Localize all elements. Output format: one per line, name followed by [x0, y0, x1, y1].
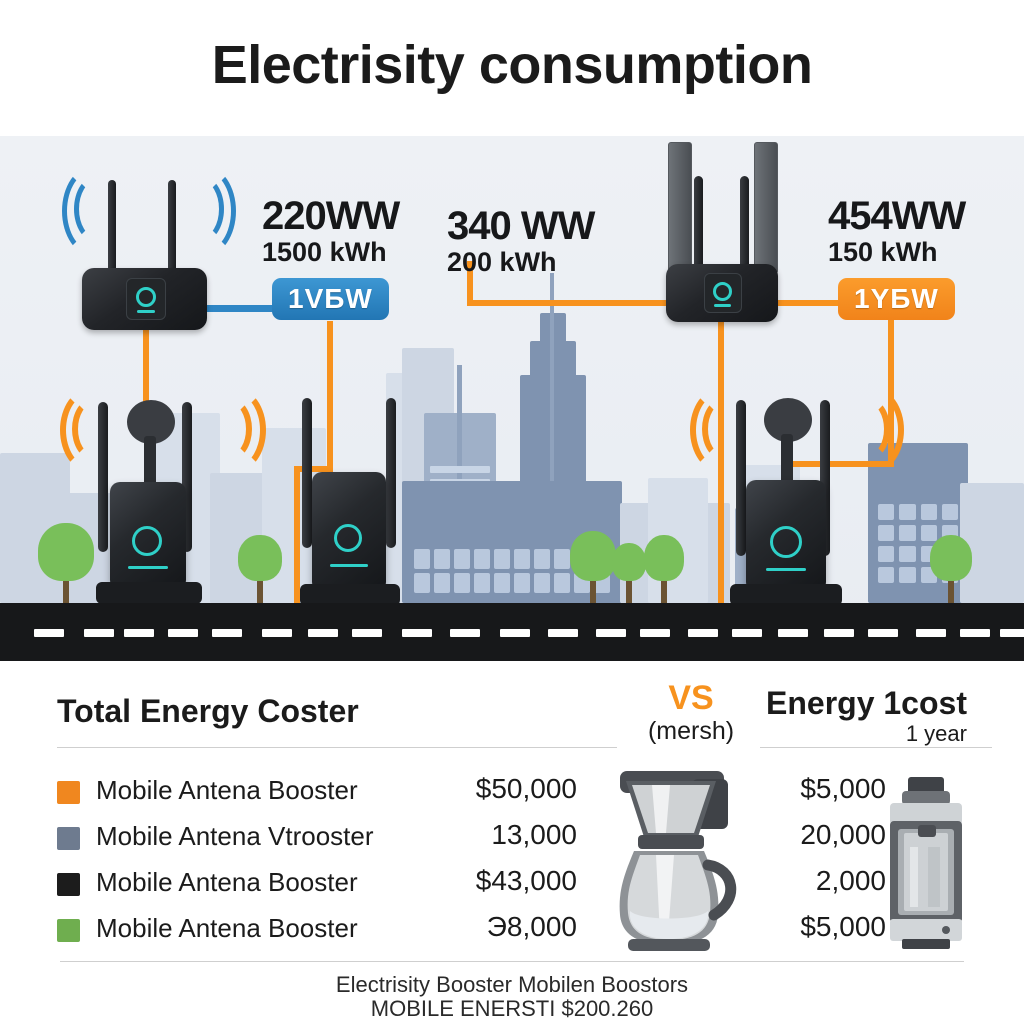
divider	[760, 747, 992, 748]
dish-neck	[781, 434, 793, 486]
table-row[interactable]: Mobile Antena Vtrooster 13,000	[57, 817, 577, 863]
router-top-right[interactable]	[658, 136, 783, 326]
label-power: 340 WW	[447, 204, 594, 249]
tower-bottom-left[interactable]	[72, 386, 242, 606]
tower-bottom-mid[interactable]	[290, 398, 420, 610]
tower-body	[110, 482, 186, 590]
energy-value: 20,000	[766, 819, 886, 865]
antenna	[694, 176, 703, 274]
label-kwh: 150 kWh	[828, 237, 965, 268]
router-top-left[interactable]	[82, 150, 207, 330]
panel-right-header: Energy 1cost	[766, 687, 967, 721]
vs-label: VS	[641, 681, 741, 715]
panel-left-header: Total Energy Coster	[57, 693, 359, 730]
dish-neck	[144, 436, 156, 488]
color-swatch	[57, 827, 80, 850]
energy-value: 2,000	[766, 865, 886, 911]
blender-icon	[880, 777, 972, 957]
router-screen	[126, 278, 166, 320]
panel-right-subheader: 1 year	[766, 721, 967, 747]
footer-line-2: MOBILE ENERSTI $200.260	[0, 996, 1024, 1022]
router-screen	[704, 273, 742, 313]
color-swatch	[57, 781, 80, 804]
tree	[612, 543, 646, 603]
color-swatch	[57, 919, 80, 942]
row-label: Mobile Antena Booster	[96, 913, 358, 944]
label-power: 220WW	[262, 194, 399, 239]
antenna	[386, 398, 396, 548]
antenna	[740, 176, 749, 274]
tower-body	[746, 480, 826, 592]
row-cost: Э8,000	[487, 911, 577, 943]
color-swatch	[57, 873, 80, 896]
footer-line-1: Electrisity Booster Mobilen Boostors	[0, 972, 1024, 998]
divider	[60, 961, 964, 962]
tower-bottom-right[interactable]	[702, 376, 882, 608]
wifi-arc-icon	[206, 388, 266, 472]
wifi-arc-icon	[60, 388, 120, 472]
antenna	[98, 402, 108, 552]
energy-value: $5,000	[766, 911, 886, 957]
tower-body	[312, 472, 386, 592]
label-power: 454WW	[828, 194, 965, 239]
table-row[interactable]: Mobile Antena Booster $50,000	[57, 771, 577, 817]
road	[0, 603, 1024, 661]
infographic-root: Electrisity consumption	[0, 0, 1024, 1024]
vs-block: VS (mersh)	[641, 681, 741, 746]
tree	[570, 531, 616, 603]
energy-value: $5,000	[766, 773, 886, 819]
label-top-left: 220WW 1500 kWh	[262, 194, 399, 268]
label-kwh: 200 kWh	[447, 247, 594, 278]
footer-block: Electrisity Booster Mobilen Boostors MOB…	[0, 972, 1024, 1022]
antenna	[302, 398, 312, 548]
divider	[57, 747, 617, 748]
cost-table: Mobile Antena Booster $50,000 Mobile Ant…	[57, 771, 577, 955]
label-top-mid: 340 WW 200 kWh	[447, 204, 594, 278]
label-top-right: 454WW 150 kWh	[828, 194, 965, 268]
row-cost: $43,000	[476, 865, 577, 897]
table-row[interactable]: Mobile Antena Booster Э8,000	[57, 909, 577, 955]
scene-illustration: 220WW 1500 kWh 1VБW 340 WW 200 kWh 454WW…	[0, 136, 1024, 661]
tree	[930, 535, 972, 603]
page-title: Electrisity consumption	[0, 34, 1024, 96]
row-label: Mobile Antena Vtrooster	[96, 821, 374, 852]
connector-line-orange	[467, 300, 682, 306]
tower-base	[96, 582, 202, 604]
coffee-maker-icon	[594, 765, 744, 955]
wifi-arc-icon	[174, 166, 236, 256]
comparison-panel: Total Energy Coster VS (mersh) Energy 1c…	[0, 661, 1024, 1024]
wifi-arc-icon	[844, 388, 904, 472]
badge-top-right[interactable]: 1YБW	[838, 278, 955, 320]
label-kwh: 1500 kWh	[262, 237, 399, 268]
vs-sublabel: (mersh)	[641, 717, 741, 746]
antenna-panel	[754, 142, 778, 274]
energy-values: $5,000 20,000 2,000 $5,000	[766, 773, 886, 957]
tree	[238, 535, 282, 603]
panel-right-header-block: Energy 1cost 1 year	[766, 687, 967, 747]
row-cost: $50,000	[476, 773, 577, 805]
row-label: Mobile Antena Booster	[96, 867, 358, 898]
badge-top-left[interactable]: 1VБW	[272, 278, 389, 320]
antenna-panel	[668, 142, 692, 274]
tree	[644, 535, 684, 603]
antenna	[736, 400, 746, 556]
row-cost: 13,000	[491, 819, 577, 851]
table-row[interactable]: Mobile Antena Booster $43,000	[57, 863, 577, 909]
row-label: Mobile Antena Booster	[96, 775, 358, 806]
